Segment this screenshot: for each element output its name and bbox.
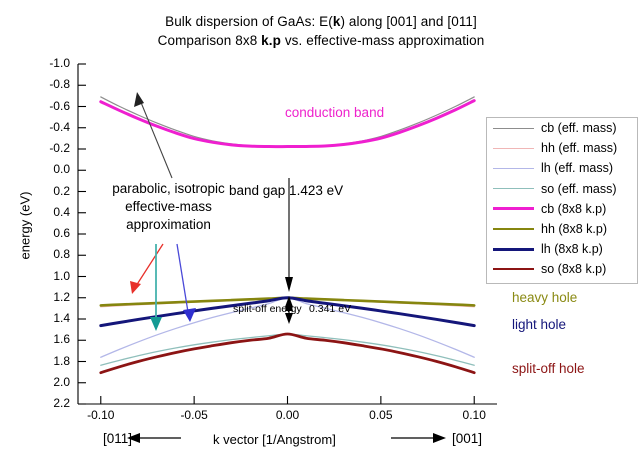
split-off-hole-label: split-off hole: [512, 361, 585, 376]
x-direction-right-label: [001]: [452, 431, 482, 446]
x-tick-label: 0.05: [356, 408, 406, 422]
legend-item-label: lh (eff. mass): [541, 161, 613, 175]
y-tick-label: 1.6: [30, 332, 70, 346]
x-axis-label: k vector [1/Angstrom]: [213, 432, 336, 447]
heavy-hole-label: heavy hole: [512, 290, 577, 305]
y-tick-label: -0.4: [30, 120, 70, 134]
y-tick-label: -0.8: [30, 77, 70, 91]
curve-so-eff-mass-: [101, 334, 474, 365]
legend-color-swatch: [493, 128, 534, 129]
legend-item[interactable]: lh (eff. mass): [487, 158, 637, 178]
legend-item[interactable]: lh (8x8 k.p): [487, 239, 637, 259]
legend-item[interactable]: so (8x8 k.p): [487, 259, 637, 279]
chart-legend: cb (eff. mass)hh (eff. mass)lh (eff. mas…: [486, 117, 638, 284]
y-tick-label: 0.2: [30, 184, 70, 198]
legend-color-swatch: [493, 228, 534, 230]
legend-item-label: cb (eff. mass): [541, 121, 616, 135]
y-tick-label: 1.8: [30, 354, 70, 368]
legend-item-label: hh (8x8 k.p): [541, 222, 607, 236]
annotation-arrows: [127, 92, 446, 443]
y-tick-label: -1.0: [30, 56, 70, 70]
y-tick-label: 1.2: [30, 290, 70, 304]
legend-item[interactable]: hh (eff. mass): [487, 138, 637, 158]
data-curves: [101, 97, 474, 373]
legend-color-swatch: [493, 207, 534, 210]
ema-line-3: approximation: [76, 216, 261, 234]
legend-item-label: so (eff. mass): [541, 182, 616, 196]
legend-color-swatch: [493, 148, 534, 149]
effective-mass-annotation: parabolic, isotropic effective-mass appr…: [76, 180, 261, 234]
x-direction-left-label: [011]: [103, 431, 132, 446]
y-tick-label: 0.6: [30, 226, 70, 240]
legend-item-label: hh (eff. mass): [541, 141, 617, 155]
legend-item[interactable]: so (eff. mass): [487, 179, 637, 199]
curve-so-8x8-k-p-: [101, 334, 474, 373]
legend-color-swatch: [493, 188, 534, 189]
conduction-band-label: conduction band: [285, 105, 384, 120]
legend-item[interactable]: cb (8x8 k.p): [487, 199, 637, 219]
legend-item[interactable]: cb (eff. mass): [487, 118, 637, 138]
legend-color-swatch: [493, 248, 534, 251]
chart-figure: Bulk dispersion of GaAs: E(k) along [001…: [0, 0, 642, 465]
legend-color-swatch: [493, 168, 534, 169]
x-tick-label: -0.10: [76, 408, 126, 422]
y-tick-label: 1.0: [30, 269, 70, 283]
legend-item-label: cb (8x8 k.p): [541, 202, 606, 216]
light-hole-label: light hole: [512, 317, 566, 332]
split-off-energy-value: 0.341 eV: [309, 303, 351, 315]
legend-item-label: so (8x8 k.p): [541, 262, 606, 276]
x-tick-label: -0.05: [169, 408, 219, 422]
split-off-energy-label: split-off energy: [233, 303, 302, 315]
legend-item-label: lh (8x8 k.p): [541, 242, 603, 256]
ema-line-1: parabolic, isotropic: [76, 180, 261, 198]
ema-line-2: effective-mass: [76, 198, 261, 216]
y-tick-label: -0.6: [30, 99, 70, 113]
x-tick-label: 0.00: [263, 408, 313, 422]
y-tick-label: 0.8: [30, 247, 70, 261]
y-tick-label: 2.0: [30, 375, 70, 389]
y-tick-label: 0.4: [30, 205, 70, 219]
legend-item[interactable]: hh (8x8 k.p): [487, 219, 637, 239]
y-tick-label: -0.2: [30, 141, 70, 155]
y-tick-label: 0.0: [30, 162, 70, 176]
legend-color-swatch: [493, 268, 534, 270]
y-tick-label: 2.2: [30, 396, 70, 410]
x-tick-label: 0.10: [449, 408, 499, 422]
y-tick-label: 1.4: [30, 311, 70, 325]
